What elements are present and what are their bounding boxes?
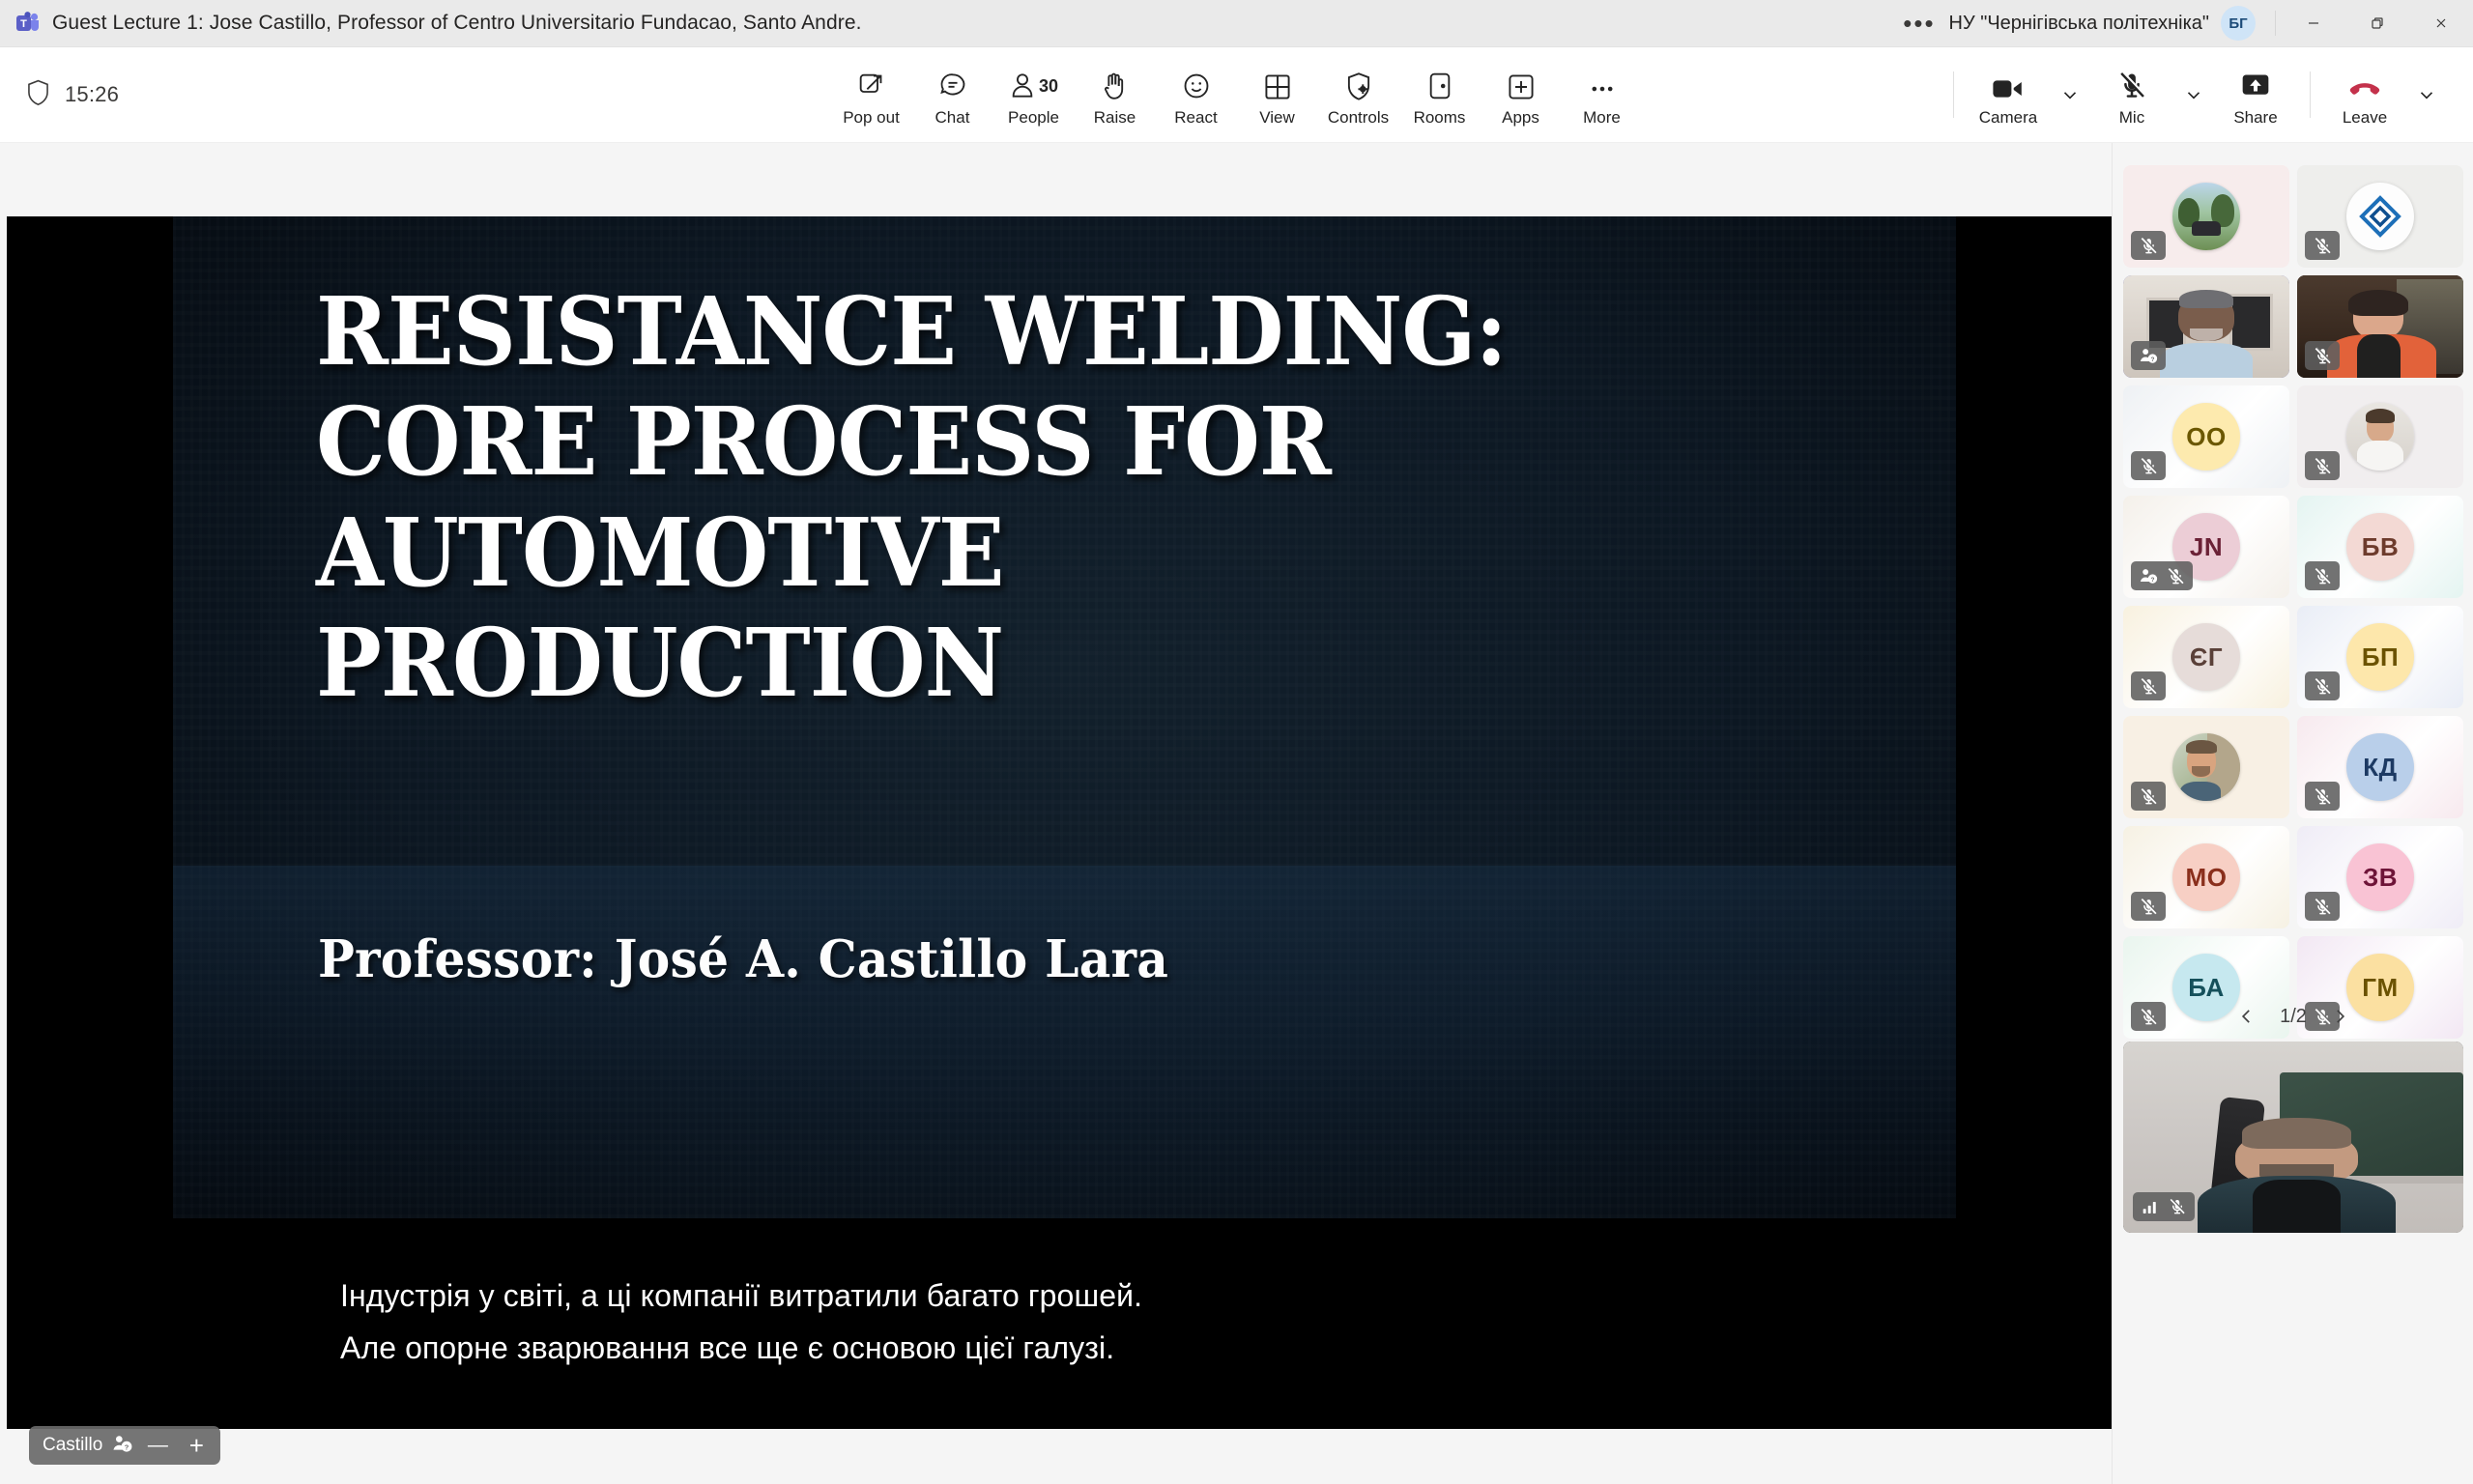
meeting-stage: RESISTANCE WELDING: CORE PROCESS FOR AUT… <box>0 143 2112 1484</box>
share-label: Share <box>2233 108 2277 128</box>
divider <box>2275 11 2276 36</box>
participant-tile[interactable] <box>2297 165 2463 268</box>
svg-text:?: ? <box>2150 577 2154 584</box>
participant-tile[interactable]: ЗВ <box>2297 826 2463 928</box>
tile-status-badges <box>2131 231 2166 260</box>
participant-tile[interactable] <box>2297 275 2463 378</box>
mic-muted-icon <box>2309 342 2336 369</box>
camera-options-chevron-down-icon[interactable] <box>2049 57 2091 132</box>
svg-text:T: T <box>20 18 27 30</box>
tile-status-badges <box>2131 892 2166 921</box>
mic-muted-icon <box>2309 672 2336 699</box>
meeting-timer: 15:26 <box>65 82 119 107</box>
participant-tile[interactable]: ЄГ <box>2123 606 2289 708</box>
tile-status-badges <box>2305 561 2340 590</box>
chat-label: Chat <box>935 108 970 128</box>
raise-hand-label: Raise <box>1094 108 1136 128</box>
rooms-button[interactable]: Rooms <box>1399 57 1481 132</box>
close-icon[interactable] <box>2409 0 2473 46</box>
participant-tile[interactable]: ? <box>2123 275 2289 378</box>
more-label: More <box>1583 108 1621 128</box>
avatar: КД <box>2346 733 2414 801</box>
avatar: ОО <box>2172 403 2240 471</box>
svg-text:?: ? <box>125 1442 129 1451</box>
view-grid-icon <box>1263 65 1292 101</box>
share-screen-up-arrow-icon <box>2240 65 2271 101</box>
mic-button[interactable]: Mic <box>2091 57 2172 132</box>
people-count: 30 <box>1039 77 1058 95</box>
controls-label: Controls <box>1328 108 1389 128</box>
avatar: ЄГ <box>2172 623 2240 691</box>
controls-button[interactable]: Controls <box>1318 57 1399 132</box>
restore-icon[interactable] <box>2345 0 2409 46</box>
caption-line: Індустрія у світі, а ці компанії витрати… <box>340 1278 1142 1314</box>
view-button[interactable]: View <box>1237 57 1318 132</box>
chat-button[interactable]: Chat <box>912 57 993 132</box>
share-button[interactable]: Share <box>2215 57 2296 132</box>
hang-up-icon <box>2347 65 2382 101</box>
mic-muted-icon <box>2162 562 2189 589</box>
camera-button[interactable]: Camera <box>1968 57 2049 132</box>
slide-title: RESISTANCE WELDING: CORE PROCESS FOR AUT… <box>316 276 1664 719</box>
avatar: ЗВ <box>2346 843 2414 911</box>
presenter-name-label: Castillo <box>43 1435 102 1456</box>
live-captions: Індустрія у світі, а ці компанії витрати… <box>7 1218 2112 1429</box>
svg-text:?: ? <box>2150 357 2154 363</box>
mic-label: Mic <box>2119 108 2144 128</box>
mic-muted-icon <box>2309 452 2336 479</box>
roster-page-indicator: 1/2 <box>2280 1006 2307 1028</box>
breakout-rooms-icon <box>1426 65 1453 101</box>
camera-on-icon <box>1992 65 2025 101</box>
react-smiley-icon <box>1181 65 1212 101</box>
tile-status-badges: ? <box>2131 561 2193 590</box>
shared-screen-content[interactable]: RESISTANCE WELDING: CORE PROCESS FOR AUT… <box>7 216 2112 1429</box>
teams-icon: T <box>15 11 41 36</box>
tile-status-badges <box>2305 451 2340 480</box>
self-view-tile[interactable] <box>2123 1042 2463 1233</box>
mic-muted-icon <box>2135 452 2162 479</box>
avatar[interactable]: БГ <box>2221 6 2256 41</box>
participant-tile[interactable] <box>2123 165 2289 268</box>
apps-button[interactable]: Apps <box>1481 57 1562 132</box>
rooms-label: Rooms <box>1414 108 1466 128</box>
participant-tile[interactable] <box>2123 716 2289 818</box>
pop-out-label: Pop out <box>843 108 900 128</box>
presenter-zoom-pill[interactable]: Castillo ? — + <box>29 1426 220 1465</box>
pop-out-button[interactable]: Pop out <box>831 57 912 132</box>
tenant-org-label: НУ "Чернігівська політехніка" <box>1949 13 2221 35</box>
react-button[interactable]: React <box>1156 57 1237 132</box>
controls-shield-gear-icon <box>1344 65 1373 101</box>
chevron-right-icon[interactable] <box>2326 1003 2353 1030</box>
slide-subtitle: Professor: José A. Castillo Lara <box>318 929 1168 989</box>
shield-icon <box>25 78 51 112</box>
raise-hand-button[interactable]: Raise <box>1075 57 1156 132</box>
zoom-in-button[interactable]: + <box>182 1431 211 1460</box>
presenter-question-icon: ? <box>2135 562 2162 589</box>
tile-status-badges <box>2131 782 2166 811</box>
window-title-bar: T Guest Lecture 1: Jose Castillo, Profes… <box>0 0 2473 47</box>
mic-muted-icon <box>2117 65 2146 101</box>
participant-tile[interactable]: БП <box>2297 606 2463 708</box>
self-view-badges <box>2133 1192 2195 1221</box>
mic-muted-icon <box>2309 232 2336 259</box>
participant-tile[interactable]: БВ <box>2297 496 2463 598</box>
presenter-question-icon: ? <box>112 1434 133 1458</box>
minimize-icon[interactable] <box>2282 0 2345 46</box>
tile-status-badges <box>2131 671 2166 700</box>
participant-tile[interactable]: КД <box>2297 716 2463 818</box>
raise-hand-icon <box>1101 65 1130 101</box>
leave-label: Leave <box>2343 108 2387 128</box>
slide-accent-band <box>173 866 1956 1218</box>
avatar: БП <box>2346 623 2414 691</box>
mic-muted-icon <box>2309 783 2336 810</box>
divider <box>2310 71 2311 118</box>
people-button[interactable]: 30 People <box>993 57 1075 132</box>
more-ellipsis-icon[interactable]: ••• <box>1889 18 1948 28</box>
roster-pager: 1/2 <box>2113 1003 2473 1030</box>
more-ellipsis-icon <box>1588 65 1617 101</box>
participant-tile-grid: ? ОО JN ? БВ ЄГ БП <box>2123 165 2463 1039</box>
mic-muted-icon <box>2135 783 2162 810</box>
chat-icon <box>937 65 968 101</box>
participant-tile[interactable]: МО <box>2123 826 2289 928</box>
tile-status-badges <box>2305 341 2340 370</box>
presenter-question-icon: ? <box>2135 342 2162 369</box>
leave-button[interactable]: Leave <box>2324 57 2405 132</box>
people-icon: 30 <box>1009 65 1058 101</box>
presentation-slide: RESISTANCE WELDING: CORE PROCESS FOR AUT… <box>173 216 1956 1218</box>
mic-muted-icon <box>2135 232 2162 259</box>
participants-roster: ? ОО JN ? БВ ЄГ БП <box>2112 143 2473 1484</box>
meeting-toolbar: 15:26 Pop out Chat <box>0 47 2473 143</box>
tile-status-badges <box>2305 782 2340 811</box>
view-label: View <box>1259 108 1295 128</box>
people-label: People <box>1008 108 1059 128</box>
mic-options-chevron-down-icon[interactable] <box>2172 57 2215 132</box>
camera-label: Camera <box>1979 108 2037 128</box>
divider <box>1953 71 1954 118</box>
tile-status-badges: ? <box>2131 341 2166 370</box>
avatar: БВ <box>2346 513 2414 581</box>
mic-muted-icon <box>2309 562 2336 589</box>
signal-bars-icon <box>2137 1193 2164 1220</box>
apps-label: Apps <box>1502 108 1539 128</box>
zoom-out-button[interactable]: — <box>143 1431 172 1460</box>
chevron-left-icon[interactable] <box>2233 1003 2260 1030</box>
participant-tile[interactable] <box>2297 385 2463 488</box>
apps-plus-icon <box>1507 65 1536 101</box>
mic-muted-icon <box>2135 893 2162 920</box>
mic-muted-icon <box>2164 1193 2191 1220</box>
pop-out-icon <box>856 65 887 101</box>
react-label: React <box>1174 108 1217 128</box>
tile-status-badges <box>2305 892 2340 921</box>
more-button[interactable]: More <box>1562 57 1643 132</box>
participant-tile[interactable]: ОО <box>2123 385 2289 488</box>
avatar: МО <box>2172 843 2240 911</box>
participant-tile[interactable]: JN ? <box>2123 496 2289 598</box>
tile-status-badges <box>2305 231 2340 260</box>
mic-muted-icon <box>2135 672 2162 699</box>
mic-muted-icon <box>2309 893 2336 920</box>
caption-line: Але опорне зварювання все ще є основою ц… <box>340 1330 1114 1366</box>
tile-status-badges <box>2305 671 2340 700</box>
meeting-title: Guest Lecture 1: Jose Castillo, Professo… <box>52 12 862 35</box>
tile-status-badges <box>2131 451 2166 480</box>
leave-options-chevron-down-icon[interactable] <box>2405 57 2448 132</box>
